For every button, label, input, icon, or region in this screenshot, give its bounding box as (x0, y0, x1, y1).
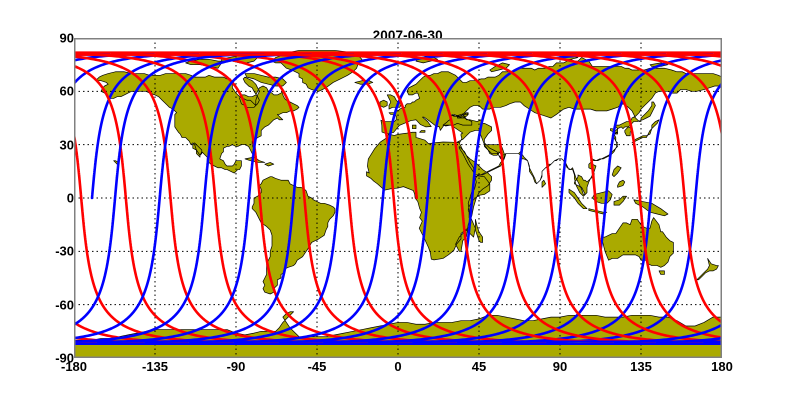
y-tick-label: 0 (14, 191, 74, 206)
x-tick-label: -45 (277, 359, 357, 374)
land-polygon (412, 125, 416, 129)
ground-track-figure: 2007-06-30 Version: 5.00 Standard Red is… (0, 0, 800, 400)
plot-area (74, 38, 722, 358)
land-polygon (380, 100, 387, 107)
x-tick-label: 180 (682, 359, 762, 374)
x-tick-label: -135 (115, 359, 195, 374)
x-tick-label: 135 (601, 359, 681, 374)
x-tick-label: -180 (34, 359, 114, 374)
x-tick-label: -90 (196, 359, 276, 374)
world-map-svg (74, 38, 722, 358)
x-tick-label: 0 (358, 359, 438, 374)
x-tick-label: 45 (439, 359, 519, 374)
x-tick-label: 90 (520, 359, 600, 374)
y-tick-label: -30 (14, 244, 74, 259)
y-tick-label: -90 (14, 351, 74, 366)
y-tick-label: -60 (14, 297, 74, 312)
